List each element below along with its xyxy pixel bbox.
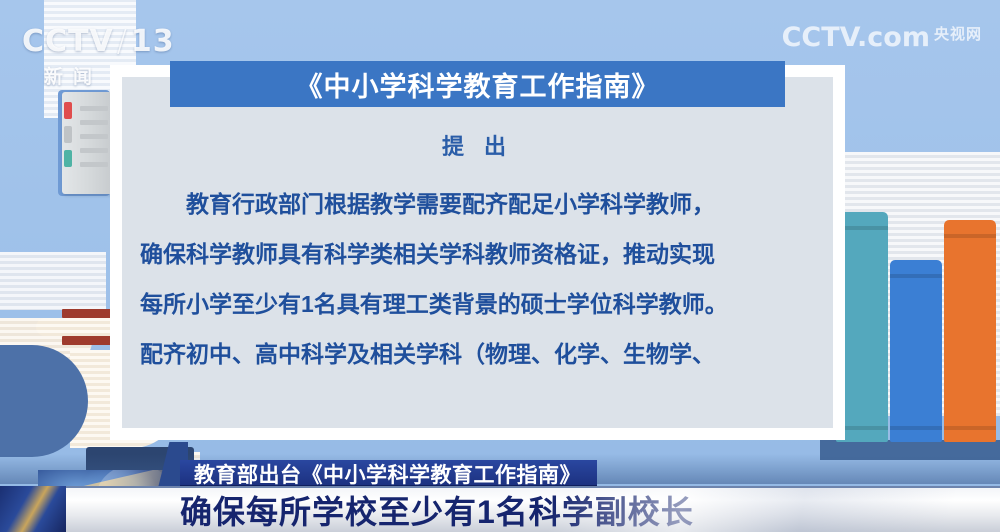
card-text-line: 配齐初中、高中科学及相关学科（物理、化学、生物学、 [140, 329, 815, 379]
logo-slash: / [117, 24, 128, 59]
card-body: 教育行政部门根据教学需要配齐配足小学科学教师， 确保科学教师具有科学类相关学科教… [122, 179, 833, 379]
channel-number: 13 [131, 24, 175, 59]
card-subtitle: 提 出 [122, 129, 833, 161]
notebook-tab-red [64, 102, 72, 119]
cctv-wordmark: CCTV [22, 24, 114, 59]
notebook-line [80, 106, 108, 111]
upright-book-blue [890, 260, 942, 442]
lower-third-headline-bar: 确保每所学校至少有1名科学副校长 [0, 486, 1000, 532]
notebook-line [80, 120, 108, 125]
notebook-tab-teal [64, 150, 72, 167]
watermark-site-cn: 央视网 [934, 23, 982, 53]
notebook-line [80, 134, 108, 139]
channel-logo-row: CCTV / 13 [22, 24, 175, 59]
lower-third-headline-text: 确保每所学校至少有1名科学副校长 [180, 487, 694, 532]
lower-third: 教育部出台《中小学科学教育工作指南》 确保每所学校至少有1名科学副校长 [0, 442, 1000, 532]
notebook-line [80, 148, 108, 153]
notebook-line [80, 162, 108, 167]
lower-third-topic-bar: 教育部出台《中小学科学教育工作指南》 [180, 460, 597, 488]
card-text-line: 每所小学至少有1名具有理工类背景的硕士学位科学教师。 [140, 279, 815, 329]
content-card-inner: 《中小学科学教育工作指南》 提 出 教育行政部门根据教学需要配齐配足小学科学教师… [122, 77, 833, 428]
notebook-pages-icon [62, 92, 114, 194]
card-text-line: 确保科学教师具有科学类相关学科教师资格证，推动实现 [140, 229, 815, 279]
notebook-tab-gray [64, 126, 72, 143]
site-watermark: CCTV.com 央视网 [782, 22, 982, 53]
card-title-banner: 《中小学科学教育工作指南》 [170, 61, 785, 107]
content-card: 《中小学科学教育工作指南》 提 出 教育行政部门根据教学需要配齐配足小学科学教师… [110, 65, 845, 440]
headline-bar-left-edge [0, 486, 66, 532]
paper-stack-left [0, 252, 106, 310]
upright-book-orange [944, 220, 996, 442]
watermark-site: CCTV.com [782, 22, 930, 53]
card-text-line: 教育行政部门根据教学需要配齐配足小学科学教师， [140, 179, 815, 229]
